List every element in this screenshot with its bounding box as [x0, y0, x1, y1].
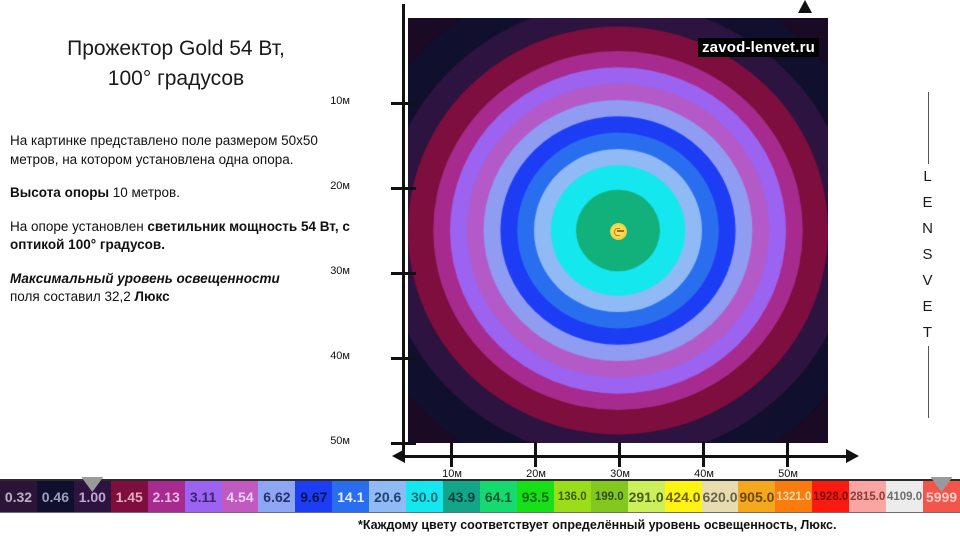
description-paragraph-field: На картинке представлено поле размером 5…: [10, 132, 350, 169]
y-tick-label-20: 20м: [308, 180, 350, 192]
colorbar-cell-0.46[interactable]: 0.46: [37, 481, 74, 512]
brand-sidebar: LENSVET: [908, 92, 948, 418]
colorbar-cell-1928.0[interactable]: 1928.0: [812, 481, 849, 512]
max-illuminance-label: Максимальный уровень освещенности: [10, 271, 280, 286]
watermark-label: zavod-lenvet.ru: [698, 38, 819, 57]
max-illuminance-unit: Люкс: [135, 289, 170, 304]
colorbar-cell-2815.0[interactable]: 2815.0: [849, 481, 886, 512]
page-title: Прожектор Gold 54 Вт, 100° градусов: [0, 34, 352, 94]
colorbar: 0.320.461.001.452.133.114.546.629.6714.1…: [0, 479, 960, 513]
info-panel: Прожектор Gold 54 Вт, 100° градусов На к…: [0, 0, 360, 470]
brand-letter-3: S: [908, 242, 948, 268]
x-tick-50: [786, 442, 789, 467]
brand-letter-5: E: [908, 294, 948, 320]
colorbar-cell-199.0[interactable]: 199.0: [591, 481, 628, 512]
x-tick-40: [702, 442, 705, 467]
y-tick-30: [391, 272, 416, 275]
pole-height-label: Высота опоры: [10, 185, 109, 200]
colorbar-cell-20.6[interactable]: 20.6: [369, 481, 406, 512]
page-title-line-1: Прожектор Gold 54 Вт,: [0, 34, 352, 64]
colorbar-cell-14.1[interactable]: 14.1: [332, 481, 369, 512]
y-tick-label-10: 10м: [308, 95, 350, 107]
x-tick-10: [450, 442, 453, 467]
colorbar-cell-9.67[interactable]: 9.67: [295, 481, 332, 512]
colorbar-cell-1321.0[interactable]: 1321.0: [775, 481, 812, 512]
pole-height-value: 10 метров.: [109, 185, 180, 200]
y-tick-20: [391, 187, 416, 190]
y-axis-arrow-icon: [798, 0, 812, 13]
luminaire-lead: На опоре установлен: [10, 219, 147, 234]
x-axis-line: [398, 455, 850, 458]
y-axis-line: [402, 4, 405, 456]
brand-rule-bottom: [928, 346, 929, 418]
brand-letter-4: V: [908, 268, 948, 294]
colorbar-cell-424.0[interactable]: 424.0: [665, 481, 702, 512]
colorbar-cell-136.0[interactable]: 136.0: [554, 481, 591, 512]
description-paragraph-luminaire: На опоре установлен светильник мощность …: [10, 218, 350, 255]
x-tick-20: [534, 442, 537, 467]
description-block: На картинке представлено поле размером 5…: [10, 132, 350, 322]
x-axis-arrow-left-icon: [392, 449, 405, 463]
y-tick-label-40: 40м: [308, 350, 350, 362]
brand-rule-top: [928, 92, 929, 164]
colorbar-cell-64.1[interactable]: 64.1: [480, 481, 517, 512]
colorbar-cell-291.0[interactable]: 291.0: [628, 481, 665, 512]
colorbar-cell-0.32[interactable]: 0.32: [0, 481, 37, 512]
colorbar-cell-2.13[interactable]: 2.13: [148, 481, 185, 512]
brand-letter-1: E: [908, 190, 948, 216]
y-tick-10: [391, 102, 416, 105]
colorbar-cell-30.0[interactable]: 30.0: [406, 481, 443, 512]
x-tick-30: [618, 442, 621, 467]
colorbar-cell-1.45[interactable]: 1.45: [111, 481, 148, 512]
x-axis-arrow-right-icon: [846, 449, 859, 463]
y-tick-40: [391, 357, 416, 360]
y-tick-50: [391, 442, 416, 445]
description-paragraph-max: Максимальный уровень освещенностиполя со…: [10, 270, 350, 307]
colorbar-cell-6.62[interactable]: 6.62: [258, 481, 295, 512]
colorbar-cell-620.0[interactable]: 620.0: [702, 481, 739, 512]
colorbar-footnote: *Каждому цвету соответствует определённы…: [358, 518, 837, 532]
illuminance-heatmap: zavod-lenvet.ru: [408, 18, 828, 443]
colorbar-cell-905.0[interactable]: 905.0: [738, 481, 775, 512]
colorbar-cell-43.9[interactable]: 43.9: [443, 481, 480, 512]
brand-letter-0: L: [908, 164, 948, 190]
brand-name: LENSVET: [908, 164, 948, 346]
brand-letter-6: T: [908, 320, 948, 346]
description-paragraph-pole: Высота опоры 10 метров.: [10, 184, 350, 203]
light-source-marker: [610, 223, 627, 240]
page-title-line-2: 100° градусов: [0, 64, 352, 94]
max-illuminance-lead: поля составил 32,2: [10, 289, 135, 304]
colorbar-cell-4.54[interactable]: 4.54: [222, 481, 259, 512]
colorbar-cell-3.11[interactable]: 3.11: [185, 481, 222, 512]
y-tick-label-50: 50м: [308, 435, 350, 447]
colorbar-cells: 0.320.461.001.452.133.114.546.629.6714.1…: [0, 479, 960, 513]
brand-letter-2: N: [908, 216, 948, 242]
colorbar-cell-93.5[interactable]: 93.5: [517, 481, 554, 512]
colorbar-cell-4109.0[interactable]: 4109.0: [886, 481, 923, 512]
y-tick-label-30: 30м: [308, 265, 350, 277]
